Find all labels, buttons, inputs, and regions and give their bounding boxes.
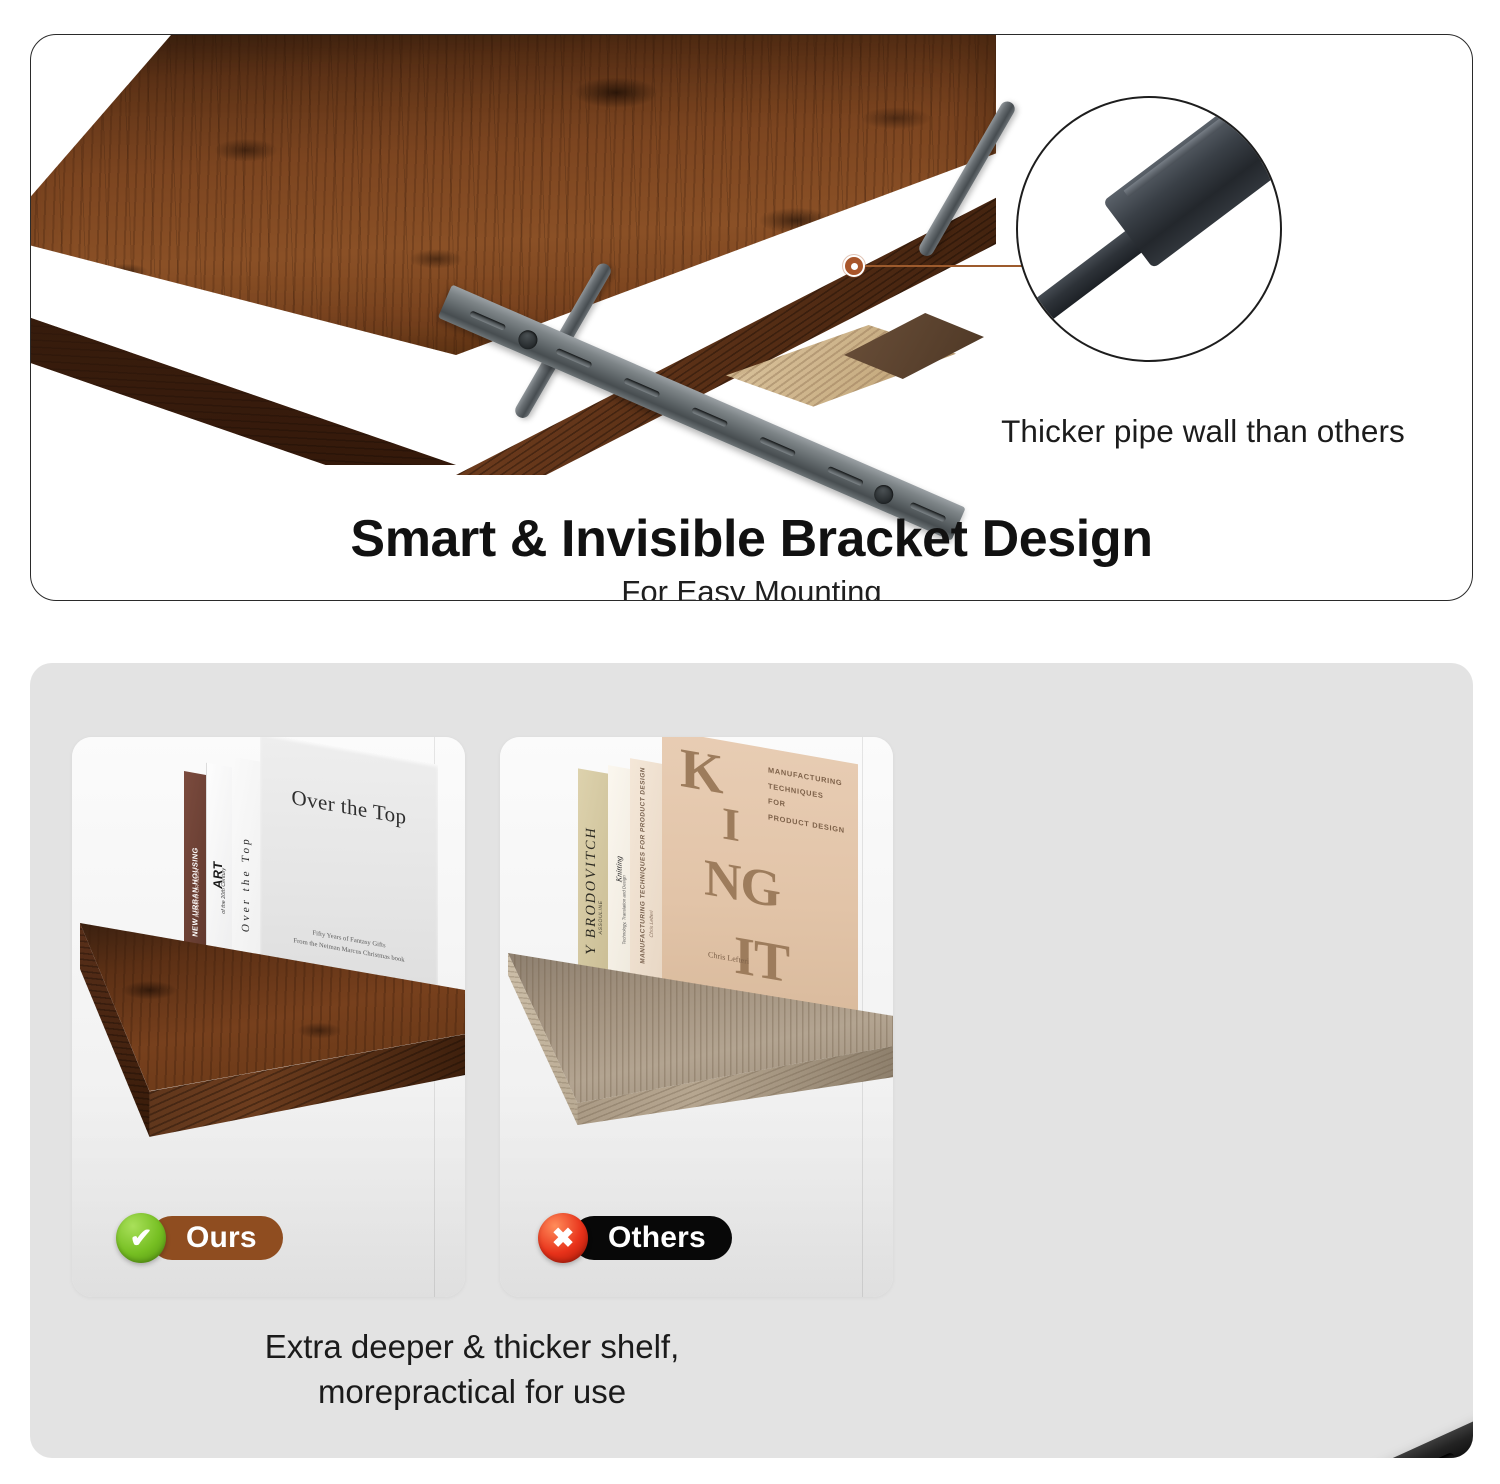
others-floor-shadow: [500, 1087, 893, 1297]
panel-subheadline: For Easy Mounting: [31, 574, 1472, 601]
book-spine-subtitle: of the 20th Century: [221, 867, 227, 914]
thicker-pipe-caption: Thicker pipe wall than others: [943, 413, 1463, 450]
callout-leader-line: [859, 265, 1035, 267]
book-cover-subtitle-block: MANUFACTURING TECHNIQUES FOR PRODUCT DES…: [768, 762, 845, 838]
comparison-caption: Extra deeper & thicker shelf, morepracti…: [62, 1325, 882, 1414]
book-spine-subtitle: MANUFACTURING TECHNIQUES FOR PRODUCT DES…: [639, 766, 646, 964]
others-photo-card: Y BRODOVITCH ASSOULINE Knitting Technolo…: [500, 737, 893, 1297]
x-circle-icon: ✖: [538, 1213, 588, 1263]
others-badge-label: Others: [572, 1216, 732, 1260]
product-infographic-page: Thicker pipe wall than others Smart & In…: [0, 0, 1500, 1484]
book-spine-title: Over the Top: [240, 835, 252, 933]
cover-letter-k: K: [680, 743, 724, 801]
ours-badge-label: Ours: [150, 1216, 283, 1260]
book-spine-subtitle: ASSOULINE: [598, 900, 604, 935]
others-badge: ✖ Others: [538, 1213, 732, 1263]
ours-badge: ✔ Ours: [116, 1213, 283, 1263]
book-spine-author: Chris Lefteri: [649, 911, 655, 939]
panel-headline: Smart & Invisible Bracket Design: [31, 509, 1472, 569]
book-spine-subtitle: HEARTH OR NEST: [195, 867, 201, 918]
book-cover-title: Over the Top: [260, 779, 438, 835]
ours-photo-card: NEW URBAN HOUSING HEARTH OR NEST ART of …: [72, 737, 465, 1297]
black-bracket-bar: [938, 1400, 1473, 1458]
cover-letter-i: I: [722, 802, 740, 847]
comparison-panel: NEW URBAN HOUSING HEARTH OR NEST ART of …: [30, 663, 1473, 1458]
bracket-design-panel: Thicker pipe wall than others Smart & In…: [30, 34, 1473, 601]
shelf-core-channel: [844, 303, 984, 403]
check-circle-icon: ✔: [116, 1213, 166, 1263]
book-spine-subtitle: Technology, Translation and Design: [621, 875, 626, 945]
callout-marker-dot: [843, 255, 865, 277]
comparison-caption-line2: morepractical for use: [62, 1370, 882, 1415]
comparison-caption-line1: Extra deeper & thicker shelf,: [62, 1325, 882, 1370]
ours-floor-shadow: [72, 1087, 465, 1297]
book-spine-title: Y BRODOVITCH: [584, 825, 600, 957]
cover-letter-ng: NG: [704, 855, 780, 915]
magnified-detail-circle: [1016, 96, 1282, 362]
